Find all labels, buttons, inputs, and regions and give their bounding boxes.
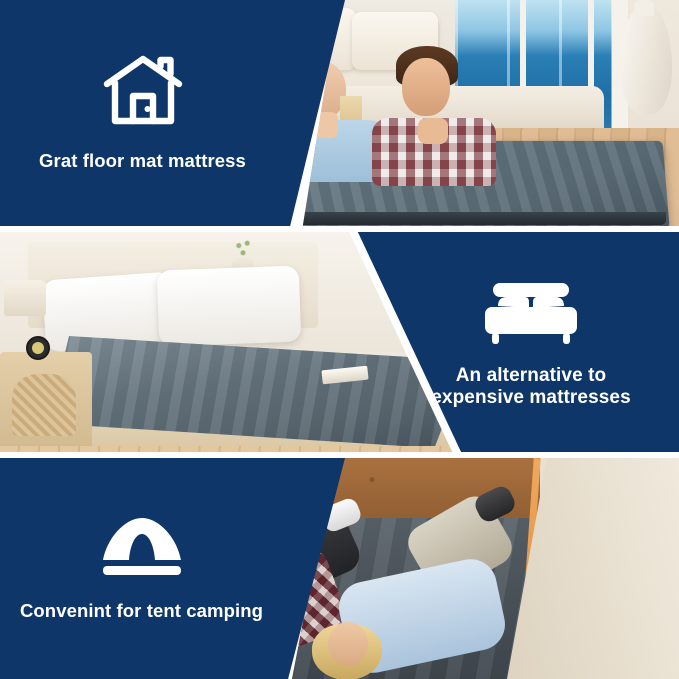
- feature-panel-camping: Convenint for tent camping: [0, 458, 345, 679]
- door-knob-icon: [144, 106, 150, 112]
- head: [328, 622, 368, 666]
- collage-row-1: Grat floor mat mattress: [0, 0, 679, 226]
- bed-leg-icon: [492, 333, 499, 344]
- house-icon: [102, 54, 184, 128]
- man-hands: [418, 118, 448, 144]
- nightstand: [0, 352, 92, 452]
- alarm-clock: [26, 336, 50, 360]
- bed-icon: [485, 283, 577, 345]
- feature-collage: Grat floor mat mattress: [0, 0, 679, 679]
- pillow: [157, 266, 302, 347]
- table-lamp: [4, 280, 46, 316]
- bed-leg-icon: [563, 333, 570, 344]
- tent-icon: [99, 516, 185, 578]
- feature-caption-floor-mat: Grat floor mat mattress: [39, 150, 246, 172]
- man-head: [402, 58, 450, 116]
- feature-caption-line-2: expensive mattresses: [431, 387, 631, 409]
- feature-panel-floor-mat: Grat floor mat mattress: [0, 0, 345, 226]
- bed-mattress-icon: [485, 307, 577, 334]
- bed-pillow-icon: [533, 297, 564, 308]
- decorative-vase: [620, 6, 672, 114]
- tent-ground-bar-icon: [103, 566, 181, 575]
- collage-row-2: An alternative to expensive mattresses: [0, 232, 679, 452]
- tent-dome-icon: [103, 518, 181, 560]
- bed-pillow-icon: [498, 297, 529, 308]
- bed-headboard-icon: [493, 283, 569, 297]
- feature-caption-alternative: An alternative to expensive mattresses: [431, 365, 631, 410]
- feature-caption-line-1: An alternative to: [431, 365, 631, 387]
- collage-row-3: Convenint for tent camping: [0, 458, 679, 679]
- feature-caption-camping: Convenint for tent camping: [20, 600, 263, 622]
